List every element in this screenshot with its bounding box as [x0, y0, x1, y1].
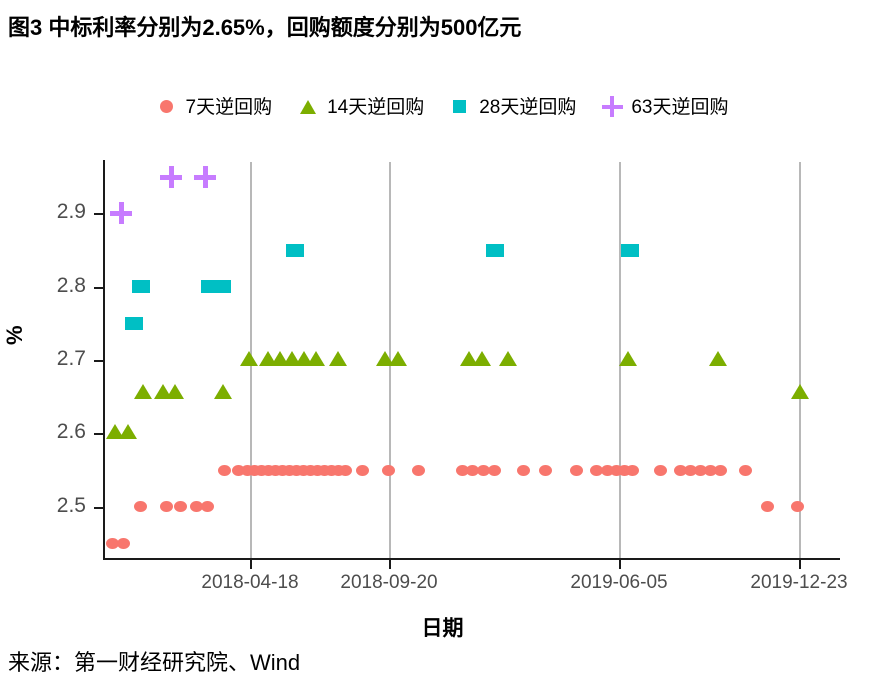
data-point-triangle [166, 384, 184, 399]
y-tick-label: 2.7 [30, 347, 86, 371]
source-note: 来源：第一财经研究院、Wind [8, 645, 300, 677]
data-point-circle [356, 465, 369, 476]
plot-area [105, 162, 838, 558]
data-point-triangle [499, 351, 517, 366]
y-tick-label: 2.9 [30, 200, 86, 224]
data-point-square [132, 280, 150, 293]
legend-triangle-icon [298, 96, 318, 116]
legend-item-label: 63天逆回购 [631, 92, 728, 119]
data-point-triangle [619, 351, 637, 366]
legend-item-label: 7天逆回购 [186, 92, 273, 119]
data-point-circle [517, 465, 530, 476]
legend-item-label: 14天逆回购 [327, 92, 424, 119]
data-point-circle [218, 465, 231, 476]
data-point-square [286, 244, 304, 257]
data-point-triangle [473, 351, 491, 366]
x-axis-line [103, 558, 840, 560]
data-point-triangle [791, 384, 809, 399]
y-tick-label: 2.8 [30, 274, 86, 298]
x-tick-label: 2018-09-20 [340, 572, 437, 594]
data-point-triangle [134, 384, 152, 399]
data-point-circle [339, 465, 352, 476]
data-point-square [125, 317, 143, 330]
data-point-circle [201, 501, 214, 512]
x-tick-label: 2019-06-05 [570, 572, 667, 594]
page-title: 图3 中标利率分别为2.65%，回购额度分别为500亿元 [8, 10, 521, 42]
x-axis-title: 日期 [0, 612, 885, 642]
legend-square-icon [450, 96, 470, 116]
x-tick-label: 2018-04-18 [201, 572, 298, 594]
y-tick-label: 2.6 [30, 420, 86, 444]
data-point-plus [194, 166, 216, 188]
x-tick-mark [619, 560, 621, 569]
data-point-plus [160, 166, 182, 188]
data-point-triangle [709, 351, 727, 366]
data-point-square [621, 244, 639, 257]
legend-item-triangle[interactable]: 14天逆回购 [298, 92, 424, 119]
y-tick-label: 2.5 [30, 494, 86, 518]
data-point-circle [117, 538, 130, 549]
chart-legend: 7天逆回购14天逆回购28天逆回购63天逆回购 [0, 92, 885, 119]
y-tick-mark [94, 507, 104, 509]
data-point-circle [761, 501, 774, 512]
data-point-triangle [329, 351, 347, 366]
data-point-circle [382, 465, 395, 476]
legend-item-square[interactable]: 28天逆回购 [450, 92, 576, 119]
legend-item-label: 28天逆回购 [479, 92, 576, 119]
data-point-circle [626, 465, 639, 476]
legend-plus-icon [602, 96, 622, 116]
data-point-triangle [214, 384, 232, 399]
y-tick-mark [94, 213, 104, 215]
x-tick-mark [799, 560, 801, 569]
data-point-circle [160, 501, 173, 512]
y-axis-title: % [2, 325, 28, 345]
data-point-circle [654, 465, 667, 476]
data-point-triangle [389, 351, 407, 366]
y-tick-mark [94, 287, 104, 289]
data-point-circle [488, 465, 501, 476]
data-point-circle [791, 501, 804, 512]
data-point-square [213, 280, 231, 293]
data-point-circle [714, 465, 727, 476]
legend-item-plus[interactable]: 63天逆回购 [602, 92, 728, 119]
legend-circle-icon [157, 96, 177, 116]
x-tick-label: 2019-12-23 [750, 572, 847, 594]
y-tick-mark [94, 433, 104, 435]
gridline [799, 162, 801, 558]
data-point-circle [539, 465, 552, 476]
data-point-square [486, 244, 504, 257]
data-point-triangle [119, 424, 137, 439]
legend-item-circle[interactable]: 7天逆回购 [157, 92, 273, 119]
data-point-circle [412, 465, 425, 476]
data-point-plus [110, 202, 132, 224]
data-point-circle [739, 465, 752, 476]
x-tick-mark [250, 560, 252, 569]
data-point-circle [570, 465, 583, 476]
data-point-circle [174, 501, 187, 512]
x-tick-mark [389, 560, 391, 569]
y-tick-mark [94, 360, 104, 362]
data-point-triangle [307, 351, 325, 366]
data-point-circle [134, 501, 147, 512]
data-point-triangle [240, 351, 258, 366]
